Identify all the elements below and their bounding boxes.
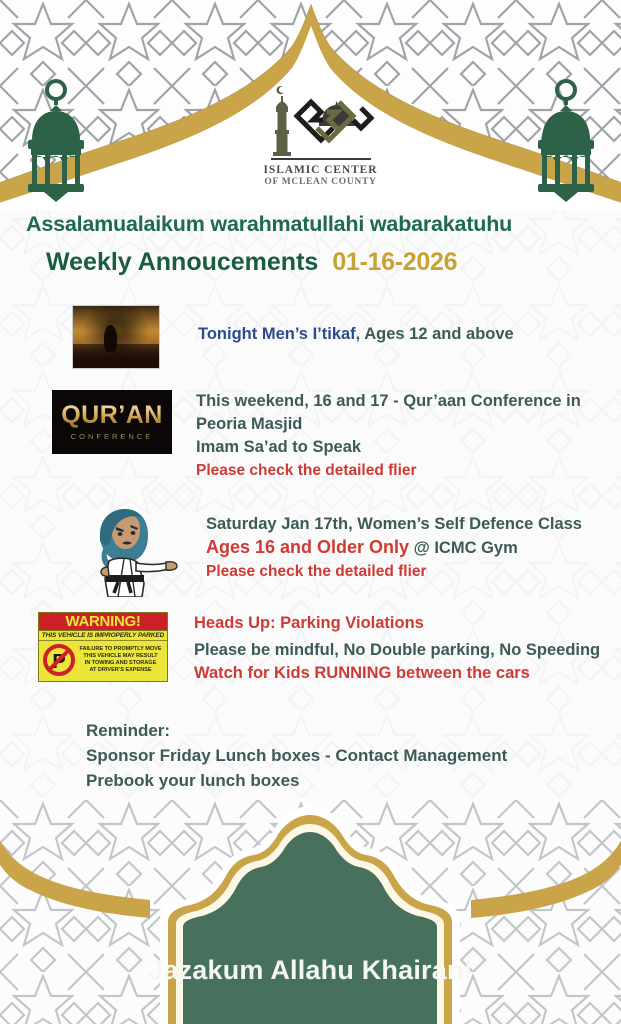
logo: ISLAMIC CENTER OF MCLEAN COUNTY <box>243 78 398 196</box>
quran-logo-subtitle: CONFERENCE <box>71 432 154 441</box>
warning-body-line: IN TOWING AND STORAGE <box>76 660 165 667</box>
lantern-icon <box>18 78 94 202</box>
announcement-line: Watch for Kids RUNNING between the cars <box>194 662 600 685</box>
warning-subline: THIS VEHICLE IS IMPROPERLY PARKED <box>39 631 167 641</box>
announcement-line: Heads Up: Parking Violations <box>194 612 600 635</box>
itikaf-mosque-photo-icon <box>72 305 160 369</box>
page-title: Weekly Annoucements <box>46 248 318 276</box>
warning-body-line: AT DRIVER’S EXPENSE <box>76 667 165 674</box>
announcement-body: This weekend, 16 and 17 - Qur’aan Confer… <box>196 390 581 482</box>
announcement-line: Please check the detailed flier <box>196 459 581 482</box>
announcement-row: Saturday Jan 17th, Women’s Self Defence … <box>78 505 582 602</box>
announcement-segment: Ages 16 and Older Only <box>206 537 409 557</box>
weekly-title-row: Weekly Annoucements01-16-2026 <box>46 248 606 277</box>
announcement-row: WARNING! THIS VEHICLE IS IMPROPERLY PARK… <box>38 612 600 685</box>
no-parking-icon: P <box>42 643 76 677</box>
quran-conference-thumbnail: QUR’AN CONFERENCE <box>52 390 172 454</box>
announcement-row: QUR’AN CONFERENCE This weekend, 16 and 1… <box>52 390 581 482</box>
announcement-line: Ages 16 and Older Only @ ICMC Gym <box>206 536 582 560</box>
mosque-monogram-icon <box>243 78 398 164</box>
parking-warning-sign-icon: WARNING! THIS VEHICLE IS IMPROPERLY PARK… <box>38 612 168 682</box>
announcement-segment: @ ICMC Gym <box>409 539 518 557</box>
announcement-segment: , Ages 12 and above <box>356 325 514 343</box>
itikaf-thumbnail <box>72 305 160 369</box>
reminder-line-1: Sponsor Friday Lunch boxes - Contact Man… <box>86 743 507 768</box>
flyer-page: ISLAMIC CENTER OF MCLEAN COUNTY Assalamu… <box>0 0 621 1024</box>
warning-main: P FAILURE TO PROMPTLY MOVE THIS VEHICLE … <box>39 641 167 677</box>
reminder-line-2: Prebook your lunch boxes <box>86 768 507 793</box>
announcement-line: Peoria Masjid <box>196 413 581 436</box>
announcement-segment: Tonight Men’s I’tikaf <box>198 325 356 343</box>
karate-girl-icon <box>78 505 178 597</box>
announcement-body: Heads Up: Parking Violations Please be m… <box>194 612 600 685</box>
announcement-body: Saturday Jan 17th, Women’s Self Defence … <box>206 505 582 583</box>
reminder-heading: Reminder: <box>86 718 507 743</box>
lantern-icon <box>528 78 604 202</box>
announcement-line: Please check the detailed flier <box>206 560 582 583</box>
announcement-date: 01-16-2026 <box>332 248 457 276</box>
logo-name-line2: OF MCLEAN COUNTY <box>243 177 398 187</box>
greeting-text: Assalamualaikum warahmatullahi wabarakat… <box>26 212 606 237</box>
self-defence-thumbnail <box>78 505 178 602</box>
quran-conference-logo-icon: QUR’AN CONFERENCE <box>52 390 172 454</box>
logo-name-line1: ISLAMIC CENTER <box>243 164 398 176</box>
announcement-line: Tonight Men’s I’tikaf, Ages 12 and above <box>198 323 514 346</box>
parking-warning-thumbnail: WARNING! THIS VEHICLE IS IMPROPERLY PARK… <box>38 612 168 682</box>
announcement-line: Saturday Jan 17th, Women’s Self Defence … <box>206 513 582 536</box>
announcement-line: Please be mindful, No Double parking, No… <box>194 639 600 662</box>
announcement-line: This weekend, 16 and 17 - Qur’aan Confer… <box>196 390 581 413</box>
quran-logo-title: QUR’AN <box>61 403 163 428</box>
warning-headline: WARNING! <box>39 613 167 631</box>
warning-body-line: THIS VEHICLE MAY RESULT <box>76 653 165 660</box>
announcement-body: Tonight Men’s I’tikaf, Ages 12 and above <box>198 305 514 346</box>
gold-arch-plaque-icon <box>0 800 621 1024</box>
announcement-row: Tonight Men’s I’tikaf, Ages 12 and above <box>72 305 514 369</box>
announcement-line: Imam Sa’ad to Speak <box>196 436 581 459</box>
warning-body: FAILURE TO PROMPTLY MOVE THIS VEHICLE MA… <box>76 646 165 675</box>
footer-text: Jazakum Allahu Khairan! <box>0 955 621 986</box>
warning-body-line: FAILURE TO PROMPTLY MOVE <box>76 646 165 653</box>
reminder-block: Reminder: Sponsor Friday Lunch boxes - C… <box>86 718 507 793</box>
